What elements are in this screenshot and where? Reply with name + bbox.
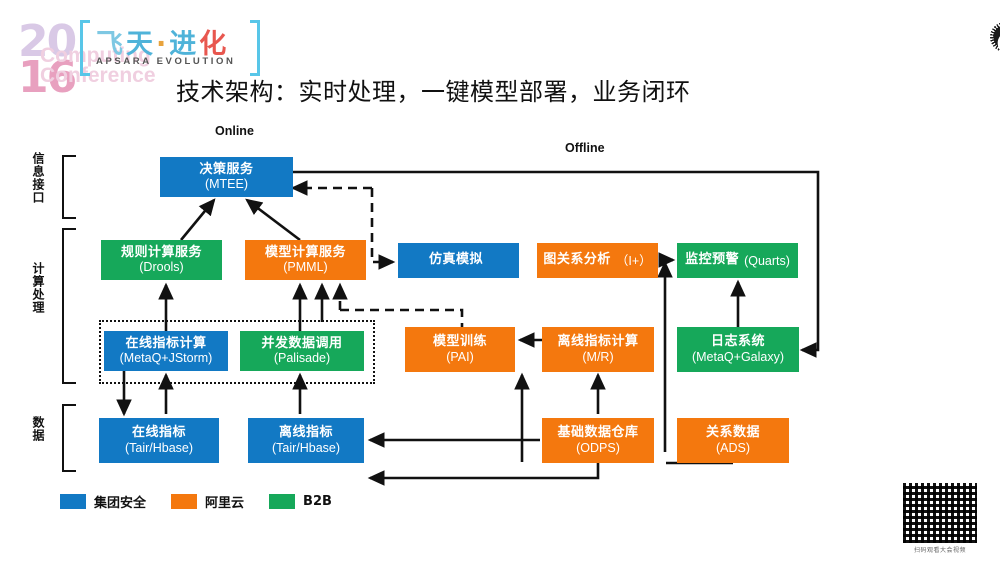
node-model-training-cn: 模型训练 — [433, 335, 487, 350]
column-label-online: Online — [215, 124, 254, 138]
row-label-info-interface: 信息接口 — [30, 152, 47, 204]
node-log-system[interactable]: 日志系统 (MetaQ+Galaxy) — [677, 327, 799, 372]
node-decision-service-cn: 决策服务 — [199, 163, 253, 178]
brace-data — [62, 404, 76, 472]
node-data-warehouse-cn: 基础数据仓库 — [557, 426, 638, 441]
qr-code-icon — [903, 483, 977, 543]
legend-item-b2b: B2B — [269, 494, 332, 509]
node-model-training[interactable]: 模型训练 (PAI) — [405, 327, 515, 372]
node-monitor-alert[interactable]: 监控预警 (Quarts) — [677, 243, 798, 278]
node-relational-data-en: (ADS) — [716, 441, 750, 455]
node-rule-compute-service-en: (Drools) — [139, 260, 183, 274]
logo-bracket-right-icon — [250, 20, 260, 76]
legend-item-group-security: 集团安全 — [60, 492, 146, 511]
legend-swatch-green — [269, 494, 295, 509]
logo-en-subtitle: APSARA EVOLUTION — [96, 56, 235, 67]
node-online-metric-store-cn: 在线指标 — [132, 426, 186, 441]
node-graph-analysis[interactable]: 图关系分析 （I+） — [537, 243, 658, 278]
brace-compute — [62, 228, 76, 384]
node-decision-service[interactable]: 决策服务 (MTEE) — [160, 157, 293, 197]
node-graph-analysis-en: （I+） — [616, 254, 652, 268]
node-online-metric-compute-en: (MetaQ+JStorm) — [120, 351, 213, 365]
node-simulation-cn: 仿真模拟 — [429, 253, 483, 268]
node-online-metric-store[interactable]: 在线指标 (Tair/Hbase) — [99, 418, 219, 463]
node-relational-data-cn: 关系数据 — [706, 426, 760, 441]
row-label-compute: 计算处理 — [30, 262, 47, 314]
node-offline-metric-compute[interactable]: 离线指标计算 (M/R) — [542, 327, 654, 372]
node-decision-service-en: (MTEE) — [205, 177, 248, 191]
node-log-system-cn: 日志系统 — [711, 335, 765, 350]
node-simulation[interactable]: 仿真模拟 — [398, 243, 519, 278]
legend-swatch-blue — [60, 494, 86, 509]
node-online-metric-compute-cn: 在线指标计算 — [125, 337, 206, 352]
node-relational-data[interactable]: 关系数据 (ADS) — [677, 418, 789, 463]
legend-item-aliyun: 阿里云 — [171, 492, 244, 511]
node-online-metric-store-en: (Tair/Hbase) — [125, 441, 193, 455]
legend-swatch-orange — [171, 494, 197, 509]
legend-label-group-security: 集团安全 — [94, 492, 146, 511]
column-label-offline: Offline — [565, 141, 605, 155]
node-concurrent-data-call[interactable]: 并发数据调用 (Palisade) — [240, 331, 364, 371]
computing-conference-icon — [990, 22, 1000, 52]
row-label-data: 数据 — [30, 416, 47, 442]
page-title: 技术架构：实时处理，一键模型部署，业务闭环 — [176, 72, 691, 107]
node-data-warehouse-en: (ODPS) — [576, 441, 620, 455]
node-rule-compute-service[interactable]: 规则计算服务 (Drools) — [101, 240, 222, 280]
logo-bracket-left-icon — [80, 20, 90, 76]
node-offline-metric-store[interactable]: 离线指标 (Tair/Hbase) — [248, 418, 364, 463]
node-concurrent-data-call-en: (Palisade) — [274, 351, 330, 365]
node-rule-compute-service-cn: 规则计算服务 — [121, 246, 202, 261]
node-monitor-alert-cn: 监控预警 — [685, 253, 739, 268]
node-online-metric-compute[interactable]: 在线指标计算 (MetaQ+JStorm) — [104, 331, 228, 371]
node-model-compute-service[interactable]: 模型计算服务 (PMML) — [245, 240, 366, 280]
node-log-system-en: (MetaQ+Galaxy) — [692, 350, 784, 364]
qr-code-caption: 扫码观看大会视频 — [903, 545, 977, 554]
node-offline-metric-compute-en: (M/R) — [582, 350, 613, 364]
brace-info-interface — [62, 155, 76, 219]
node-data-warehouse[interactable]: 基础数据仓库 (ODPS) — [542, 418, 654, 463]
node-offline-metric-compute-cn: 离线指标计算 — [557, 335, 638, 350]
node-model-compute-service-cn: 模型计算服务 — [265, 246, 346, 261]
node-model-training-en: (PAI) — [446, 350, 474, 364]
node-offline-metric-store-cn: 离线指标 — [279, 426, 333, 441]
node-model-compute-service-en: (PMML) — [283, 260, 327, 274]
legend-label-b2b: B2B — [303, 494, 332, 509]
legend-label-aliyun: 阿里云 — [205, 492, 244, 511]
slide-canvas: 20 16 ComputingConference 飞天·进化 APSARA E… — [0, 0, 1000, 563]
node-monitor-alert-en: (Quarts) — [744, 254, 790, 268]
qr-code-block: 扫码观看大会视频 — [903, 483, 977, 554]
node-concurrent-data-call-cn: 并发数据调用 — [261, 337, 342, 352]
node-graph-analysis-cn: 图关系分析 — [543, 253, 611, 268]
node-offline-metric-store-en: (Tair/Hbase) — [272, 441, 340, 455]
legend: 集团安全 阿里云 B2B — [60, 492, 348, 511]
